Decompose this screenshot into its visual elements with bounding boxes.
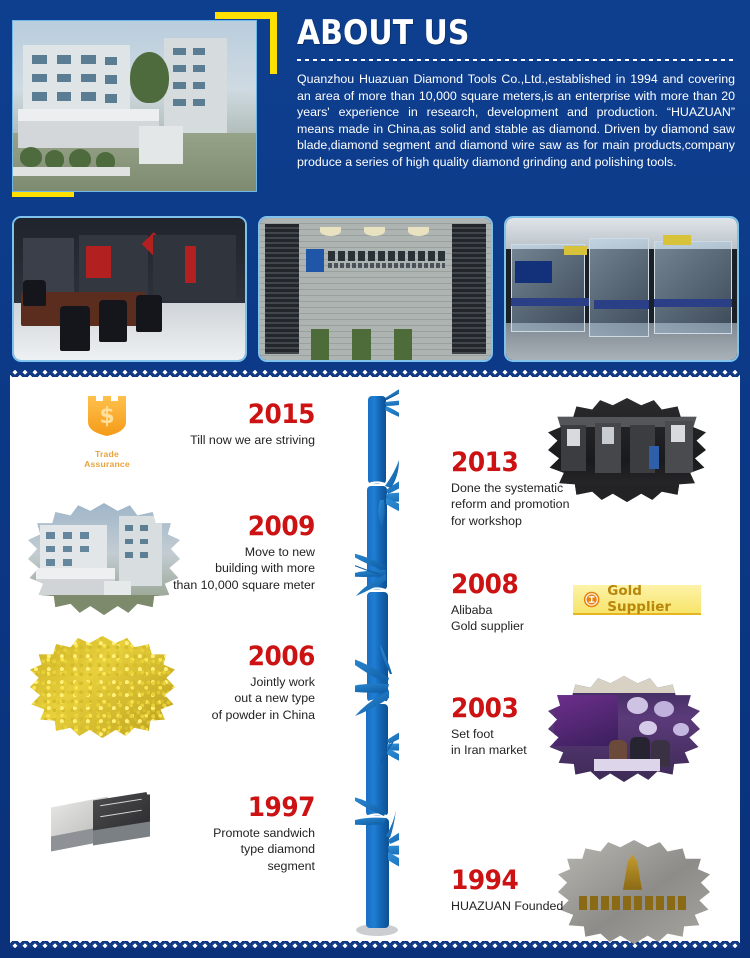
timeline-entry-2009: 2009 Move to newbuilding with morethan 1… <box>133 512 315 593</box>
timeline-desc-2008: AlibabaGold supplier <box>451 602 641 635</box>
timeline-year-2006: 2006 <box>148 642 315 671</box>
header-section: ABOUT US Quanzhou Huazuan Diamond Tools … <box>0 0 750 368</box>
timeline-desc-1997: Promote sandwichtype diamondsegment <box>133 825 315 874</box>
svg-text:$: $ <box>99 404 114 429</box>
trade-assurance-label: Trade Assurance <box>72 449 142 469</box>
timeline-entry-2008: 2008 AlibabaGold supplier <box>451 570 641 635</box>
thumbnail-showroom <box>12 216 247 362</box>
timeline-desc-2003: Set footin Iran market <box>451 726 641 759</box>
timeline-desc-2009: Move to newbuilding with morethan 10,000… <box>133 544 315 593</box>
timeline-desc-2006: Jointly workout a new typeof powder in C… <box>133 674 315 723</box>
timeline-year-2009: 2009 <box>148 512 315 541</box>
thumbnail-company-signage <box>258 216 493 362</box>
about-title-block: ABOUT US Quanzhou Huazuan Diamond Tools … <box>297 14 737 171</box>
about-description: Quanzhou Huazuan Diamond Tools Co.,Ltd.,… <box>297 71 735 171</box>
trade-assurance-badge[interactable]: $ Trade Assurance <box>72 392 142 469</box>
timeline-year-2003: 2003 <box>451 694 626 723</box>
timeline-entry-1997: 1997 Promote sandwichtype diamondsegment <box>133 793 315 874</box>
timeline-entry-2006: 2006 Jointly workout a new typeof powder… <box>133 642 315 723</box>
hero-photo-factory-buildings <box>12 20 257 192</box>
trade-assurance-shield-icon: $ <box>84 392 130 440</box>
panel-edge-top-zigzag <box>10 370 740 377</box>
timeline-year-2008: 2008 <box>451 570 626 599</box>
page-title: ABOUT US <box>297 14 684 52</box>
hero-photo-frame <box>12 12 277 197</box>
timeline-desc-2015: Till now we are striving <box>133 432 315 448</box>
timeline-entry-1994: 1994 HUAZUAN Founded <box>451 866 641 914</box>
thumbnail-office-interior <box>504 216 739 362</box>
timeline-year-2015: 2015 <box>148 400 315 429</box>
timeline-entry-2015: 2015 Till now we are striving <box>133 400 315 448</box>
title-divider <box>297 59 737 61</box>
timeline-entry-2003: 2003 Set footin Iran market <box>451 694 641 759</box>
timeline-year-1997: 1997 <box>148 793 315 822</box>
timeline-desc-1994: HUAZUAN Founded <box>451 898 641 914</box>
timeline-desc-2013: Done the systematicreform and promotionf… <box>451 480 641 529</box>
timeline-year-1994: 1994 <box>451 866 626 895</box>
timeline-entry-2013: 2013 Done the systematicreform and promo… <box>451 448 641 529</box>
panel-edge-bottom-zigzag <box>10 941 740 948</box>
timeline-year-2013: 2013 <box>451 448 626 477</box>
